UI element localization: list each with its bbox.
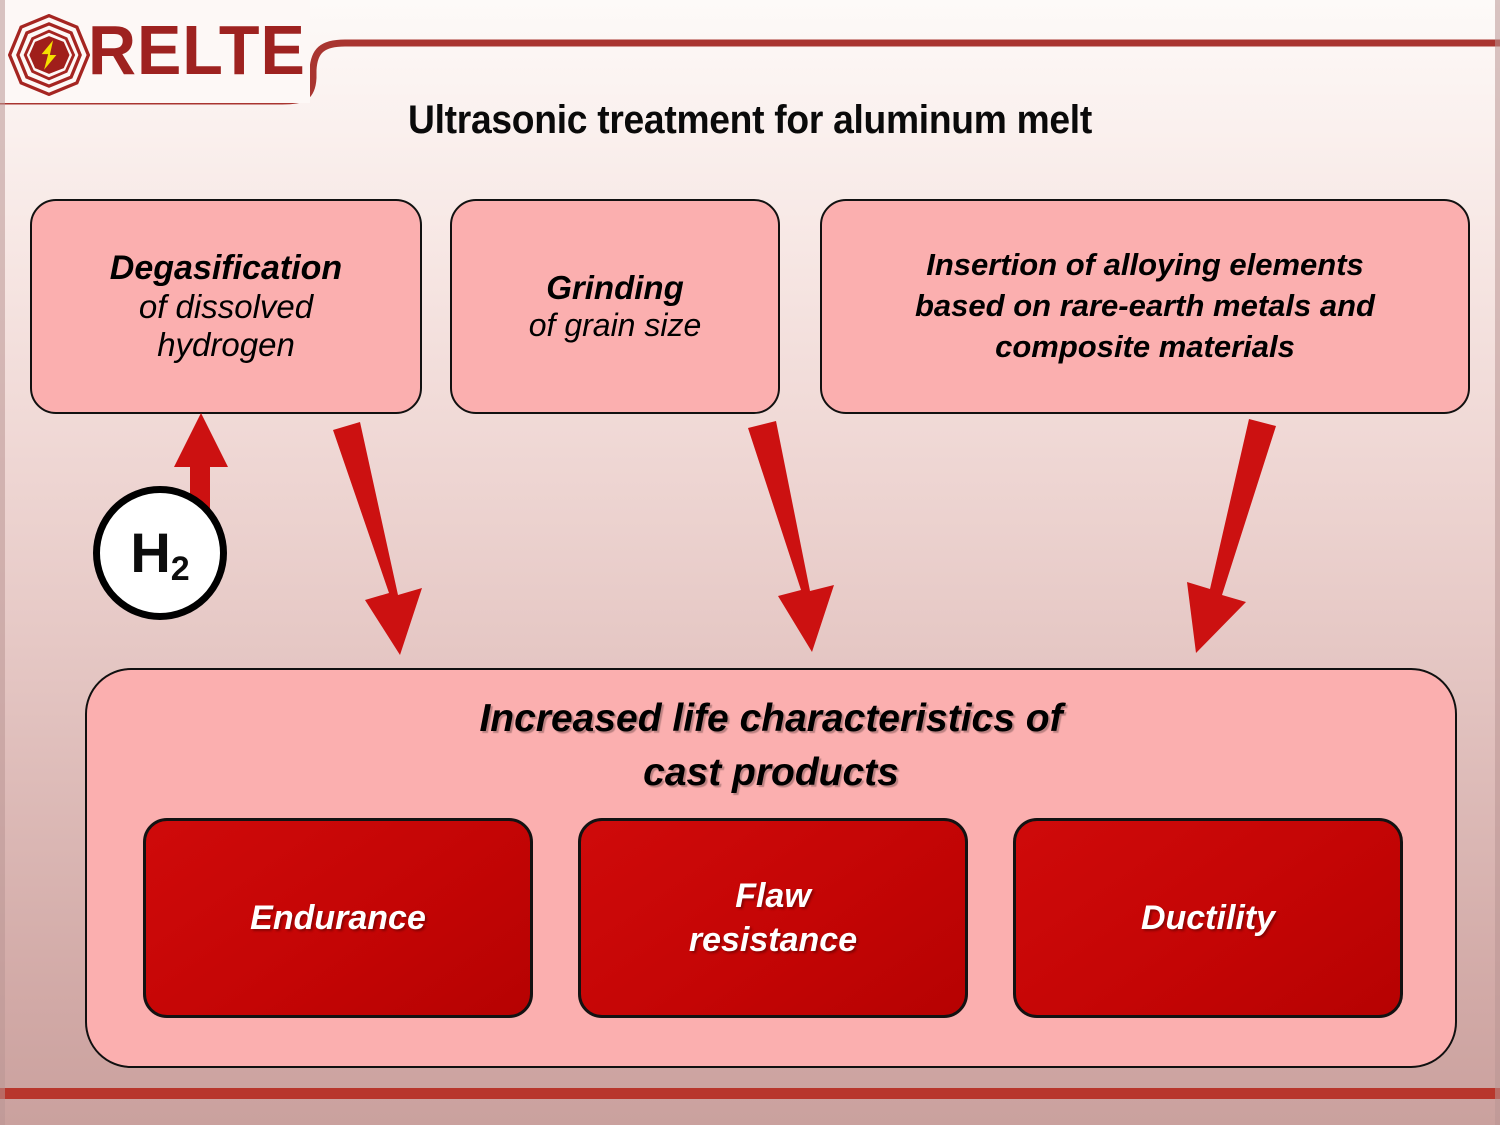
process-box-insertion-line3: composite materials xyxy=(995,327,1295,368)
process-box-degasification-line1: of dissolved xyxy=(139,288,313,326)
octagon-lightning-bolt-icon xyxy=(8,14,90,96)
process-box-grinding-line1: of grain size xyxy=(529,307,702,344)
hydrogen-subscript: 2 xyxy=(171,550,190,588)
slide-canvas: RELTEC Ultrasonic treatment for aluminum… xyxy=(0,0,1500,1125)
page-edge-left xyxy=(0,0,5,1125)
outcome-items-row: Endurance Flaw resistance Ductility xyxy=(143,818,1403,1018)
outcome-box[interactable]: Increased life characteristics of cast p… xyxy=(85,668,1457,1068)
outcome-item-ductility-label: Ductility xyxy=(1141,896,1275,940)
process-box-grinding-title: Grinding xyxy=(546,269,683,307)
process-box-insertion[interactable]: Insertion of alloying elements based on … xyxy=(820,199,1470,414)
outcome-item-flaw-resistance[interactable]: Flaw resistance xyxy=(578,818,968,1018)
brand-wordmark-text: RELTEC xyxy=(88,11,303,89)
process-box-degasification-title: Degasification xyxy=(110,249,342,288)
outcome-item-flaw-resistance-line2: resistance xyxy=(689,918,857,962)
process-box-insertion-line1: Insertion of alloying elements xyxy=(926,245,1364,286)
process-box-degasification-line2: hydrogen xyxy=(157,326,295,364)
process-box-grinding[interactable]: Grinding of grain size xyxy=(450,199,780,414)
outcome-item-endurance-label: Endurance xyxy=(250,896,426,940)
page-edge-right xyxy=(1495,0,1500,1125)
outcome-item-endurance[interactable]: Endurance xyxy=(143,818,533,1018)
arrow-insertion-to-outcome xyxy=(1187,419,1276,653)
arrow-degasification-to-outcome xyxy=(333,422,422,655)
page-title: Ultrasonic treatment for aluminum melt xyxy=(53,98,1448,143)
outcome-heading-line2: cast products xyxy=(87,746,1455,800)
process-box-degasification[interactable]: Degasification of dissolved hydrogen xyxy=(30,199,422,414)
process-box-insertion-line2: based on rare-earth metals and xyxy=(915,286,1375,327)
hydrogen-symbol: H xyxy=(130,521,170,584)
brand-wordmark: RELTEC xyxy=(88,10,303,92)
hydrogen-label: H2 xyxy=(130,525,189,581)
outcome-item-ductility[interactable]: Ductility xyxy=(1013,818,1403,1018)
outcome-heading: Increased life characteristics of cast p… xyxy=(87,692,1455,800)
brand-logo: RELTEC xyxy=(0,0,310,103)
arrow-grinding-to-outcome xyxy=(748,421,834,652)
outcome-heading-line1: Increased life characteristics of xyxy=(87,692,1455,746)
outcome-item-flaw-resistance-label: Flaw resistance xyxy=(689,874,857,962)
hydrogen-bubble-icon: H2 xyxy=(93,486,227,620)
outcome-item-flaw-resistance-line1: Flaw xyxy=(689,874,857,918)
footer-accent-bar xyxy=(0,1088,1500,1099)
